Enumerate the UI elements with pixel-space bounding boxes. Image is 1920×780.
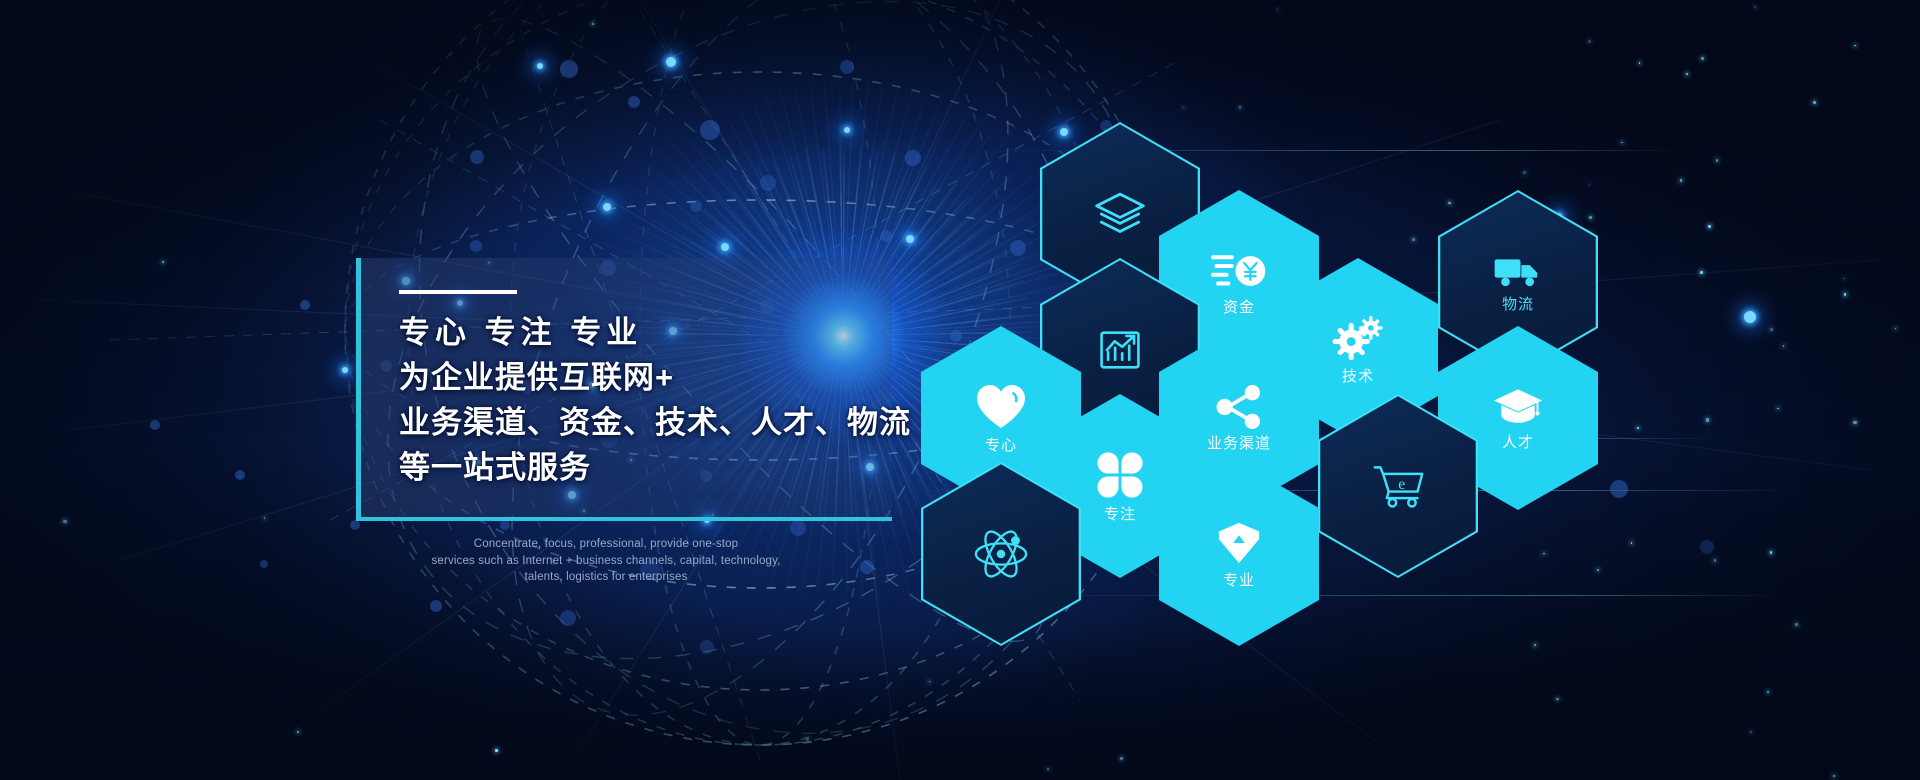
heart-icon <box>975 383 1027 431</box>
money-yen-icon <box>1211 249 1267 293</box>
hexagon-cluster: 资金物流技术专心业务渠道人才专注e专业 <box>0 0 1920 780</box>
graduation-cap-icon <box>1492 386 1544 428</box>
headline-line-4: 等一站式服务 <box>399 445 892 490</box>
atom-icon <box>972 527 1030 581</box>
hex-label-zhuanxin: 专心 <box>985 438 1017 453</box>
title-divider-rule <box>399 290 517 294</box>
delivery-truck-icon <box>1493 252 1543 290</box>
english-subtitle: Concentrate, focus, professional, provid… <box>416 536 796 586</box>
subtitle-line-3: talents, logistics for enterprises <box>416 569 796 586</box>
hex-label-rencai: 人才 <box>1502 435 1534 450</box>
share-nodes-icon <box>1214 385 1264 429</box>
banner-stage: 资金物流技术专心业务渠道人才专注e专业 专心 专注 专业 为企业提供互联网+ 业… <box>0 0 1920 780</box>
headline-line-3: 业务渠道、资金、技术、人才、物流 <box>399 400 892 445</box>
hex-tile-zhuanye[interactable]: 专业 <box>1159 462 1319 646</box>
clover-icon <box>1095 450 1145 500</box>
svg-text:e: e <box>1398 476 1405 493</box>
hex-label-jishu: 技术 <box>1342 369 1374 384</box>
subtitle-line-1: Concentrate, focus, professional, provid… <box>416 536 796 553</box>
hex-label-yewu: 业务渠道 <box>1207 436 1271 451</box>
diamond-gem-icon <box>1216 520 1262 566</box>
hex-label-zhuanzhu: 专注 <box>1104 507 1136 522</box>
hex-label-zhuanye: 专业 <box>1223 573 1255 588</box>
headline-line-1: 专心 专注 专业 <box>399 310 892 355</box>
hex-tile-atom[interactable] <box>921 462 1081 646</box>
e-shopping-cart-icon: e <box>1371 462 1425 510</box>
headline-panel: 专心 专注 专业 为企业提供互联网+ 业务渠道、资金、技术、人才、物流 等一站式… <box>356 258 892 521</box>
headline-line-2: 为企业提供互联网+ <box>399 355 892 400</box>
growth-chart-icon <box>1094 324 1146 376</box>
hex-label-wuliu: 物流 <box>1502 297 1534 312</box>
headline-lines: 专心 专注 专业 为企业提供互联网+ 业务渠道、资金、技术、人才、物流 等一站式… <box>399 310 892 490</box>
subtitle-line-2: services such as Internet + business cha… <box>416 553 796 570</box>
gears-icon <box>1332 316 1384 362</box>
layers-stack-icon <box>1092 186 1148 242</box>
hex-tile-ecart[interactable]: e <box>1318 394 1478 578</box>
hex-label-zijin: 资金 <box>1223 300 1255 315</box>
